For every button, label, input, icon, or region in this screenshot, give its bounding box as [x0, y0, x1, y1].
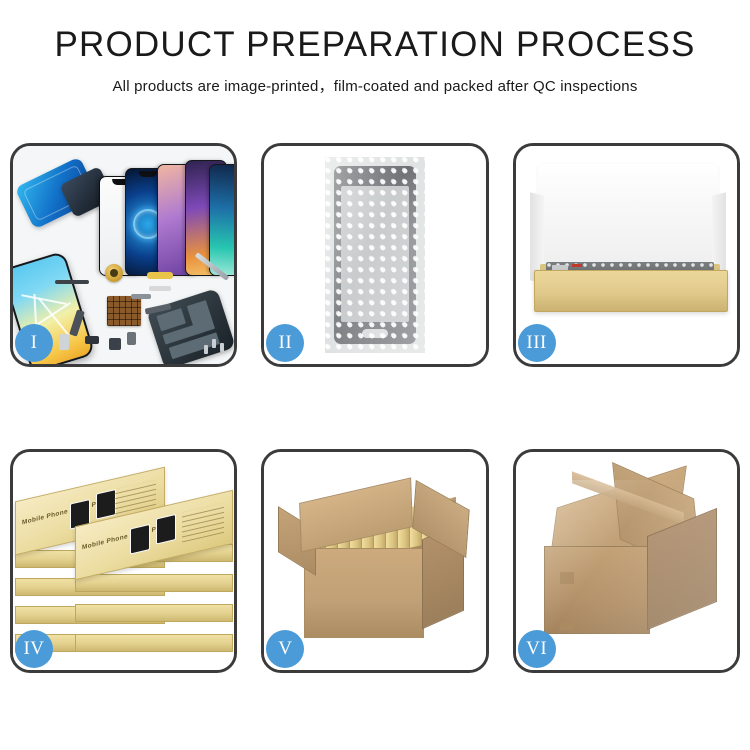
- crack-line: [21, 294, 66, 304]
- connector-part: [85, 336, 99, 344]
- screw-part: [212, 339, 216, 348]
- battery-connector-part: [127, 332, 136, 345]
- screw-part: [220, 343, 224, 352]
- flex-cable-part: [131, 294, 151, 299]
- notch-icon: [139, 171, 157, 177]
- carton-front-face: [304, 548, 424, 638]
- carton-handle-cutout: [560, 572, 574, 584]
- process-row-bottom: Mobile Phone Spare Parts Mobile Phone Sp…: [10, 449, 740, 673]
- process-step-panel-2: II: [261, 143, 488, 367]
- box-edge: [75, 634, 233, 652]
- process-step-panel-6: VI: [513, 449, 740, 673]
- screw-part: [204, 345, 208, 354]
- copper-coil-part: [105, 264, 123, 282]
- process-step-grid: I II: [10, 143, 740, 673]
- process-row-top: I II: [10, 143, 740, 367]
- page-title: PRODUCT PREPARATION PROCESS: [0, 26, 750, 65]
- chip-array-part: [107, 296, 141, 326]
- box-edge: [75, 574, 233, 592]
- speaker-part: [109, 338, 121, 350]
- box-print-thumbnail: [156, 514, 176, 545]
- step-badge-6: VI: [518, 630, 556, 668]
- step-badge-4: IV: [15, 630, 53, 668]
- sim-tray-part: [59, 334, 69, 350]
- kraft-box-base: [534, 270, 728, 312]
- box-print-thumbnail: [96, 489, 116, 520]
- plastic-sheen: [325, 157, 425, 353]
- phone-display-fan: [99, 158, 234, 276]
- step-badge-3: III: [518, 324, 556, 362]
- process-step-panel-5: V: [261, 449, 488, 673]
- process-step-panel-4: Mobile Phone Spare Parts Mobile Phone Sp…: [10, 449, 237, 673]
- flex-cable-part: [55, 280, 89, 284]
- phone-display-teal: [209, 164, 234, 276]
- box-print-thumbnail: [130, 524, 150, 555]
- page-subtitle: All products are image-printed，film-coat…: [0, 75, 750, 96]
- process-step-panel-3: III: [513, 143, 740, 367]
- process-step-panel-1: I: [10, 143, 237, 367]
- box-edge: [75, 604, 233, 622]
- red-marker: [572, 264, 582, 267]
- carton-handle-cutout: [560, 618, 574, 630]
- page-header: PRODUCT PREPARATION PROCESS All products…: [0, 0, 750, 96]
- bubble-wrapped-screen: [325, 157, 425, 353]
- flex-cable-part: [149, 286, 171, 291]
- phone-chassis: [147, 288, 235, 364]
- step-badge-1: I: [15, 324, 53, 362]
- flex-cable-part: [147, 272, 173, 279]
- box-print-specs: [182, 503, 224, 543]
